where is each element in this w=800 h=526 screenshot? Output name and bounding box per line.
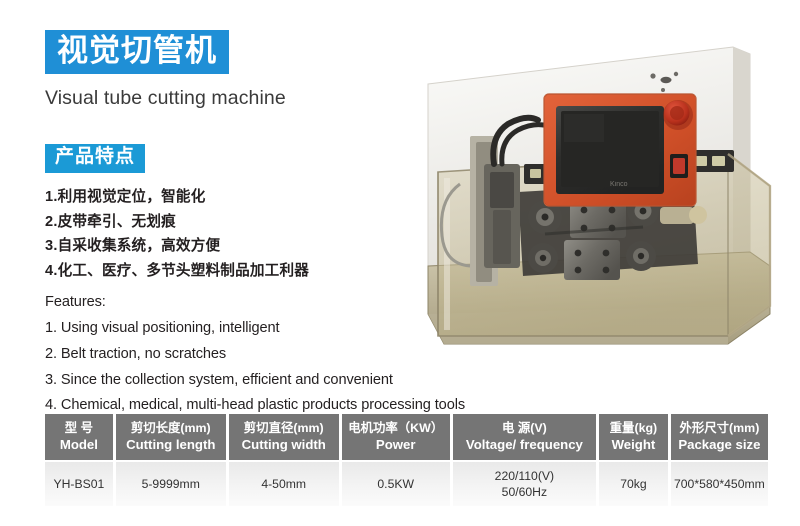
header-en: Cutting width [242,437,326,453]
table-header-row: 型 号 Model 剪切长度(mm) Cutting length 剪切直径(m… [45,414,768,460]
table-cell-cutting-length: 5-9999mm [116,462,226,506]
table-header-cell: 剪切直径(mm) Cutting width [229,414,339,460]
cell-line: 70kg [620,476,646,492]
table-cell-power: 0.5KW [342,462,450,506]
header-en: Voltage/ frequency [466,437,583,453]
cell-line: YH-BS01 [53,476,104,492]
specification-table: 型 号 Model 剪切长度(mm) Cutting length 剪切直径(m… [45,414,768,506]
machine-illustration: Kinco [398,14,794,396]
table-cell-package-size: 700*580*450mm [671,462,768,506]
hmi-control-panel[interactable]: Kinco [544,94,696,206]
features-section-badge: 产品特点 [45,144,145,173]
cell-line: 5-9999mm [142,476,200,492]
table-cell-cutting-width: 4-50mm [229,462,339,506]
table-header-cell: 电机功率（KW） Power [342,414,450,460]
table-header-cell: 型 号 Model [45,414,113,460]
table-cell-voltage: 220/110(V) 50/60Hz [453,462,596,506]
product-photo: Kinco [398,14,794,396]
table-header-cell: 电 源(V) Voltage/ frequency [453,414,596,460]
header-cn: 重量(kg) [610,421,658,437]
header-en: Weight [612,437,656,453]
header-en: Cutting length [126,437,215,453]
header-en: Power [376,437,416,453]
emergency-stop-button[interactable] [663,100,693,130]
cell-line: 700*580*450mm [674,476,765,492]
table-cell-weight: 70kg [599,462,668,506]
table-header-cell: 剪切长度(mm) Cutting length [116,414,226,460]
header-en: Package size [678,437,760,453]
header-cn: 型 号 [65,421,93,437]
cell-line: 0.5KW [377,476,414,492]
page-title: 视觉切管机 [45,30,229,74]
header-cn: 电 源(V) [502,421,547,437]
header-cn: 电机功率（KW） [348,421,443,437]
header-cn: 剪切直径(mm) [244,421,324,437]
header-en: Model [60,437,98,453]
svg-text:Kinco: Kinco [610,181,628,188]
cell-line: 4-50mm [261,476,306,492]
header-cn: 外形尺寸(mm) [679,421,759,437]
power-switch[interactable] [670,154,688,178]
table-header-cell: 重量(kg) Weight [599,414,668,460]
cell-line: 220/110(V) [495,468,554,484]
table-row: YH-BS01 5-9999mm 4-50mm 0.5KW 220/110(V)… [45,462,768,506]
cell-line: 50/60Hz [502,484,547,500]
product-spec-page: 视觉切管机 Visual tube cutting machine 产品特点 1… [0,0,800,526]
header-cn: 剪切长度(mm) [131,421,211,437]
table-cell-model: YH-BS01 [45,462,113,506]
table-header-cell: 外形尺寸(mm) Package size [671,414,768,460]
